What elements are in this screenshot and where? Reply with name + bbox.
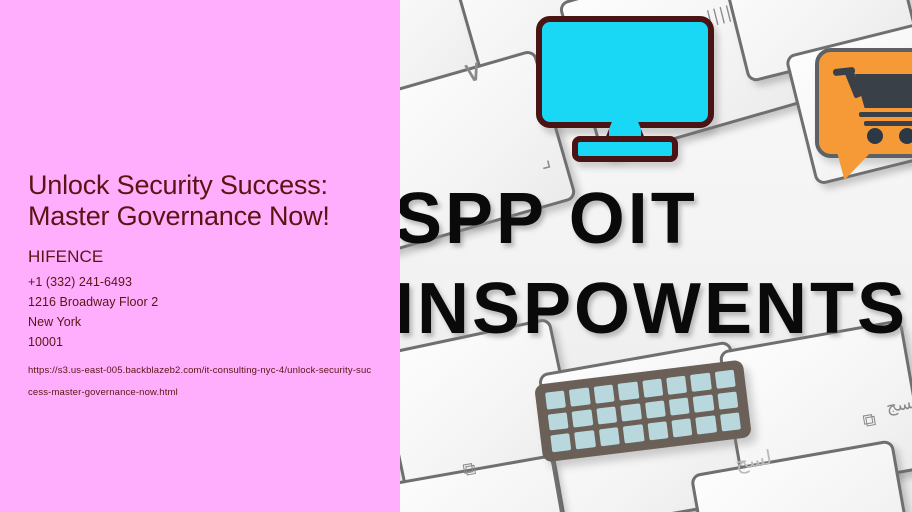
arabic-glyph-icon: لسج: [885, 392, 912, 417]
mini-key: [596, 406, 617, 425]
cart-basket: [855, 74, 912, 108]
promo-card: Unlock Security Success: Master Governan…: [0, 0, 912, 512]
mini-key: [623, 425, 644, 444]
brand-name: HIFENCE: [28, 246, 373, 268]
mini-key: [717, 391, 738, 410]
mini-key: [644, 400, 665, 419]
mini-key: [690, 373, 711, 392]
mini-key: [671, 419, 692, 438]
mini-key: [618, 382, 639, 401]
phone-number[interactable]: +1 (332) 241-6493: [28, 272, 373, 292]
mini-key: [714, 370, 735, 389]
monitor-screen: [536, 16, 714, 128]
info-panel: Unlock Security Success: Master Governan…: [0, 0, 400, 512]
shopping-cart-icon: [833, 64, 912, 144]
mini-key: [548, 412, 569, 431]
mini-key: [572, 409, 593, 428]
mini-key: [669, 397, 690, 416]
promo-artwork-image: ∨ ⌟ ∣∣∣∣ ⧉ لسج ⧉ لسج S: [400, 0, 912, 512]
mini-key: [666, 376, 687, 395]
monitor-stand-base: [572, 136, 678, 162]
page-title: Unlock Security Success: Master Governan…: [28, 170, 373, 232]
mini-key: [593, 384, 614, 403]
shopping-cart-bubble-icon: [815, 48, 912, 180]
mini-key: [693, 394, 714, 413]
address-zip: 10001: [28, 332, 373, 352]
artwork-headline-line2: INSPOWENTS: [400, 268, 908, 350]
mini-key: [550, 433, 571, 452]
cart-bar: [864, 121, 912, 126]
artwork-headline-line1: SPP OIT: [400, 178, 698, 260]
mini-key: [575, 430, 596, 449]
mini-key: [647, 422, 668, 441]
speech-bubble-tail: [837, 152, 871, 180]
mini-key: [642, 379, 663, 398]
page-url-link[interactable]: https://s3.us-east-005.backblazeb2.com/i…: [28, 360, 373, 404]
mini-key: [599, 428, 620, 447]
cart-wheel: [899, 128, 912, 144]
monitor-icon: [536, 16, 714, 158]
mini-key: [695, 416, 716, 435]
cart-bar: [859, 112, 912, 117]
mini-key: [620, 403, 641, 422]
address-city: New York: [28, 312, 373, 332]
address-street: 1216 Broadway Floor 2: [28, 292, 373, 312]
info-content-block: Unlock Security Success: Master Governan…: [28, 170, 373, 404]
mini-key: [545, 390, 566, 409]
mini-key: [569, 387, 590, 406]
mini-key: [720, 413, 741, 432]
cart-wheel: [867, 128, 883, 144]
